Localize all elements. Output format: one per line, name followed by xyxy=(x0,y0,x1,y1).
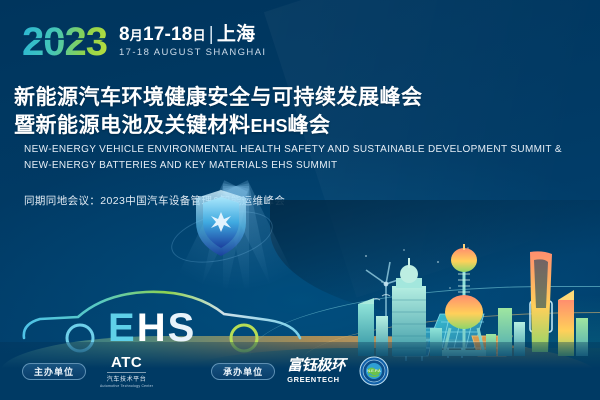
date-line-en: 17-18 AUGUST SHANGHAI xyxy=(119,47,267,58)
date-divider: | xyxy=(209,24,214,45)
greentech-logo-en: GREENTECH xyxy=(287,375,340,384)
title-en-line2: NEW-ENERGY BATTERIES AND KEY MATERIALS E… xyxy=(24,158,562,174)
poster-header: 2023 8月17-18日|上海 17-18 AUGUST SHANGHAI xyxy=(22,24,266,61)
title-cn-line2-ehs: EHS xyxy=(251,116,288,136)
atc-logo-mark: ATC xyxy=(111,355,142,370)
atc-logo-cn: 汽车技术平台 xyxy=(107,372,147,383)
title-en-line1: NEW-ENERGY VEHICLE ENVIRONMENTAL HEALTH … xyxy=(24,142,562,158)
environment-association-seal-icon[interactable]: N.E.P.A xyxy=(359,356,389,386)
year-logo: 2023 xyxy=(22,24,107,61)
date-line-cn: 8月17-18日|上海 xyxy=(119,25,267,45)
seal-abbr: N.E.P.A xyxy=(367,368,381,373)
date-city: 上海 xyxy=(217,24,255,45)
atc-logo-en: Automotive Technology Center xyxy=(100,384,153,388)
organizer-label-pill: 主办单位 xyxy=(22,363,86,380)
conference-poster: 2023 8月17-18日|上海 17-18 AUGUST SHANGHAI 新… xyxy=(0,0,600,400)
title-cn-line1: 新能源汽车环境健康安全与可持续发展峰会 xyxy=(14,84,423,112)
title-cn-line2: 暨新能源电池及关键材料EHS峰会 xyxy=(14,112,423,140)
title-block: 新能源汽车环境健康安全与可持续发展峰会 暨新能源电池及关键材料EHS峰会 xyxy=(14,84,423,139)
date-day-unit: 日 xyxy=(193,28,206,43)
date-month: 8 xyxy=(119,24,130,45)
date-days: 17-18 xyxy=(143,24,193,45)
atc-logo[interactable]: ATC 汽车技术平台 Automotive Technology Center xyxy=(100,355,153,388)
greentech-logo[interactable]: 富钰极环 GREENTECH xyxy=(287,358,345,384)
sponsor-bar: 主办单位 ATC 汽车技术平台 Automotive Technology Ce… xyxy=(0,342,600,400)
title-en: NEW-ENERGY VEHICLE ENVIRONMENTAL HEALTH … xyxy=(24,142,562,173)
greentech-logo-cn: 富钰极环 xyxy=(287,358,345,373)
title-cn-line2-post: 峰会 xyxy=(288,114,331,137)
date-month-unit: 月 xyxy=(130,28,143,43)
date-block: 8月17-18日|上海 17-18 AUGUST SHANGHAI xyxy=(119,25,267,61)
title-cn-line2-pre: 暨新能源电池及关键材料 xyxy=(14,114,251,137)
co-organizer-label-pill: 承办单位 xyxy=(211,363,275,380)
shield-icon xyxy=(193,188,249,258)
